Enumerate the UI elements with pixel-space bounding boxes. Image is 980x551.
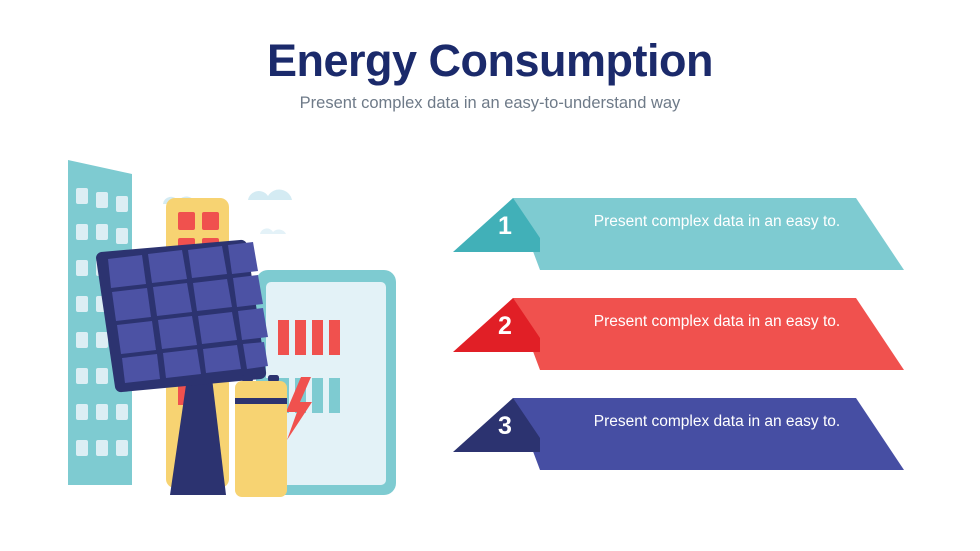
cloud-icon-right bbox=[248, 190, 292, 200]
banner-item-3[interactable]: 3 Present complex data in an easy to. bbox=[444, 390, 924, 482]
banner-number-3: 3 bbox=[482, 414, 528, 439]
battery-icon bbox=[235, 375, 287, 497]
banner-item-1[interactable]: 1 Present complex data in an easy to. bbox=[444, 190, 924, 282]
banner-list: 1 Present complex data in an easy to. 2 … bbox=[444, 190, 924, 490]
slide-canvas: Energy Consumption Present complex data … bbox=[0, 0, 980, 551]
banner-text-3: Present complex data in an easy to. bbox=[552, 412, 882, 432]
banner-item-2[interactable]: 2 Present complex data in an easy to. bbox=[444, 290, 924, 382]
header: Energy Consumption Present complex data … bbox=[0, 36, 980, 114]
banner-body-1 bbox=[513, 198, 904, 270]
cloud-icon-small bbox=[260, 228, 286, 234]
banner-text-2: Present complex data in an easy to. bbox=[552, 312, 882, 332]
banner-number-2: 2 bbox=[482, 314, 528, 339]
page-subtitle: Present complex data in an easy-to-under… bbox=[0, 94, 980, 114]
energy-consumption-illustration bbox=[60, 140, 410, 530]
banner-text-1: Present complex data in an easy to. bbox=[552, 212, 882, 232]
solar-panel bbox=[96, 240, 268, 392]
page-title: Energy Consumption bbox=[0, 36, 980, 86]
banner-number-1: 1 bbox=[482, 214, 528, 239]
banner-body-2 bbox=[513, 298, 904, 370]
banner-body-3 bbox=[513, 398, 904, 470]
